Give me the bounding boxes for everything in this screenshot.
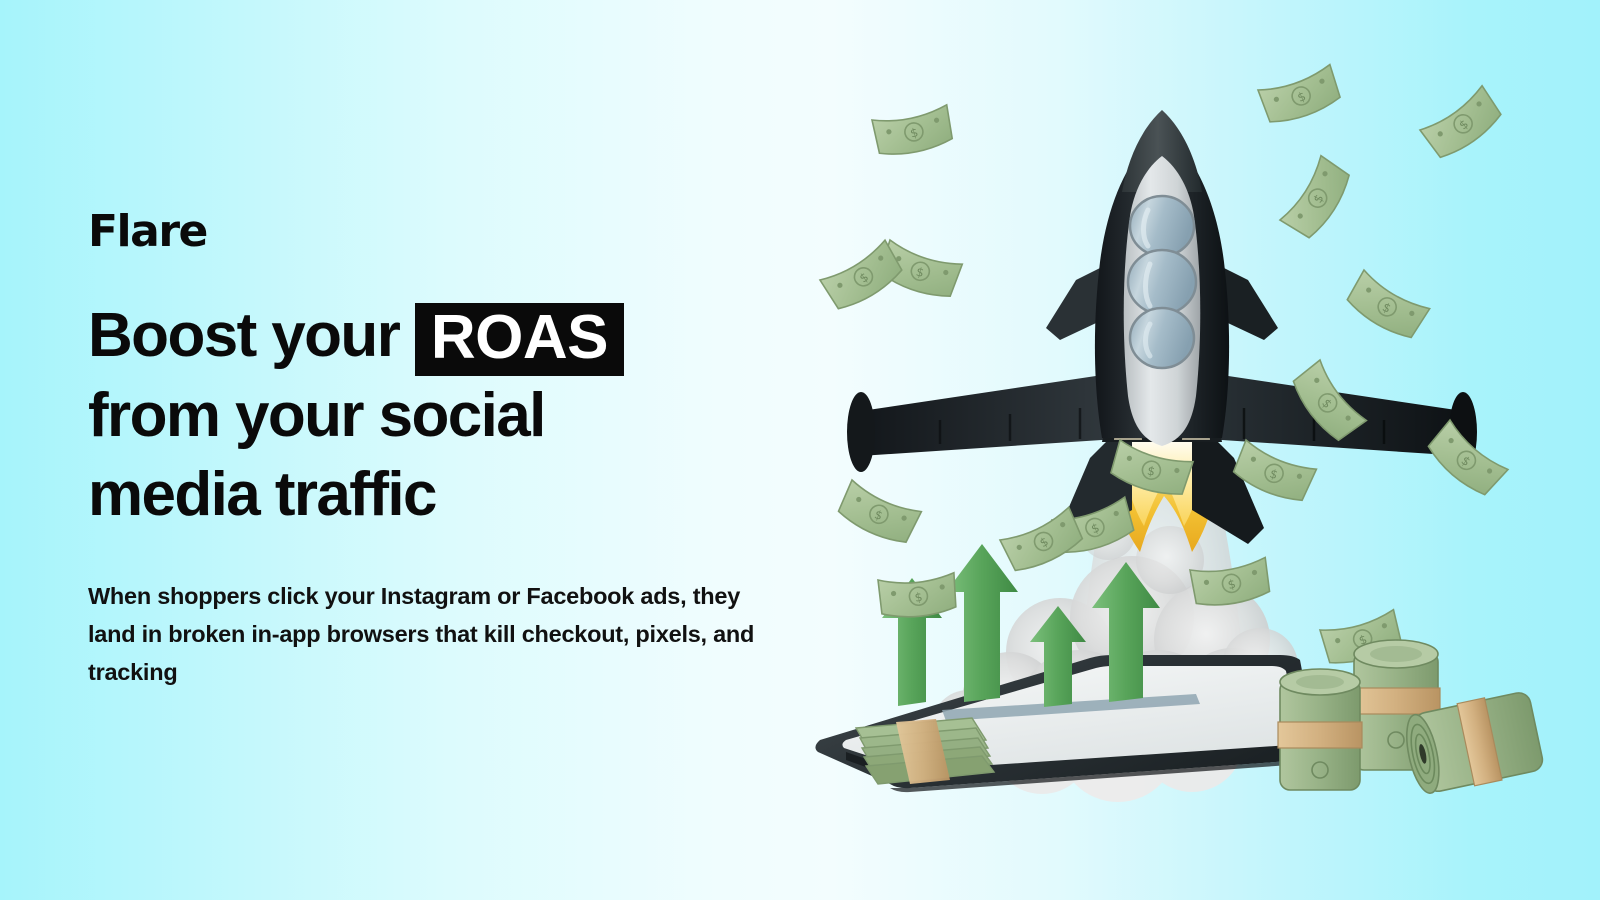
dollar-bill: $ [1418,81,1506,164]
money-roll [1278,669,1362,790]
page-subtitle: When shoppers click your Instagram or Fa… [88,577,768,691]
money-rolls [1278,640,1545,798]
dollar-bill: $ [876,567,960,623]
jet-wingtip-pod-left [847,392,875,472]
brand-logo-text: Flare [88,206,207,257]
jet-canopy [1128,196,1196,368]
headline-line-3: media traffic [88,455,788,534]
headline-line-1: Boost your ROAS [88,296,788,376]
headline-prefix: Boost your [88,301,415,370]
brand-logo[interactable]: Flare [88,210,788,254]
roas-highlight-badge: ROAS [415,303,624,376]
headline-line-2: from your social [88,376,788,455]
dollar-bill: $ [870,99,957,162]
dollar-bill: $ [1279,153,1354,242]
page-title: Boost your ROAS from your social media t… [88,296,788,535]
cash-stack [856,718,994,784]
dollar-bill: $ [1256,59,1345,130]
dollar-bill: $ [1343,269,1432,342]
hero-text-column: Flare Boost your ROAS from your social m… [88,210,788,691]
dollar-bill: $ [835,479,923,546]
hero-illustration: $ $ $ $ $ [760,40,1560,840]
